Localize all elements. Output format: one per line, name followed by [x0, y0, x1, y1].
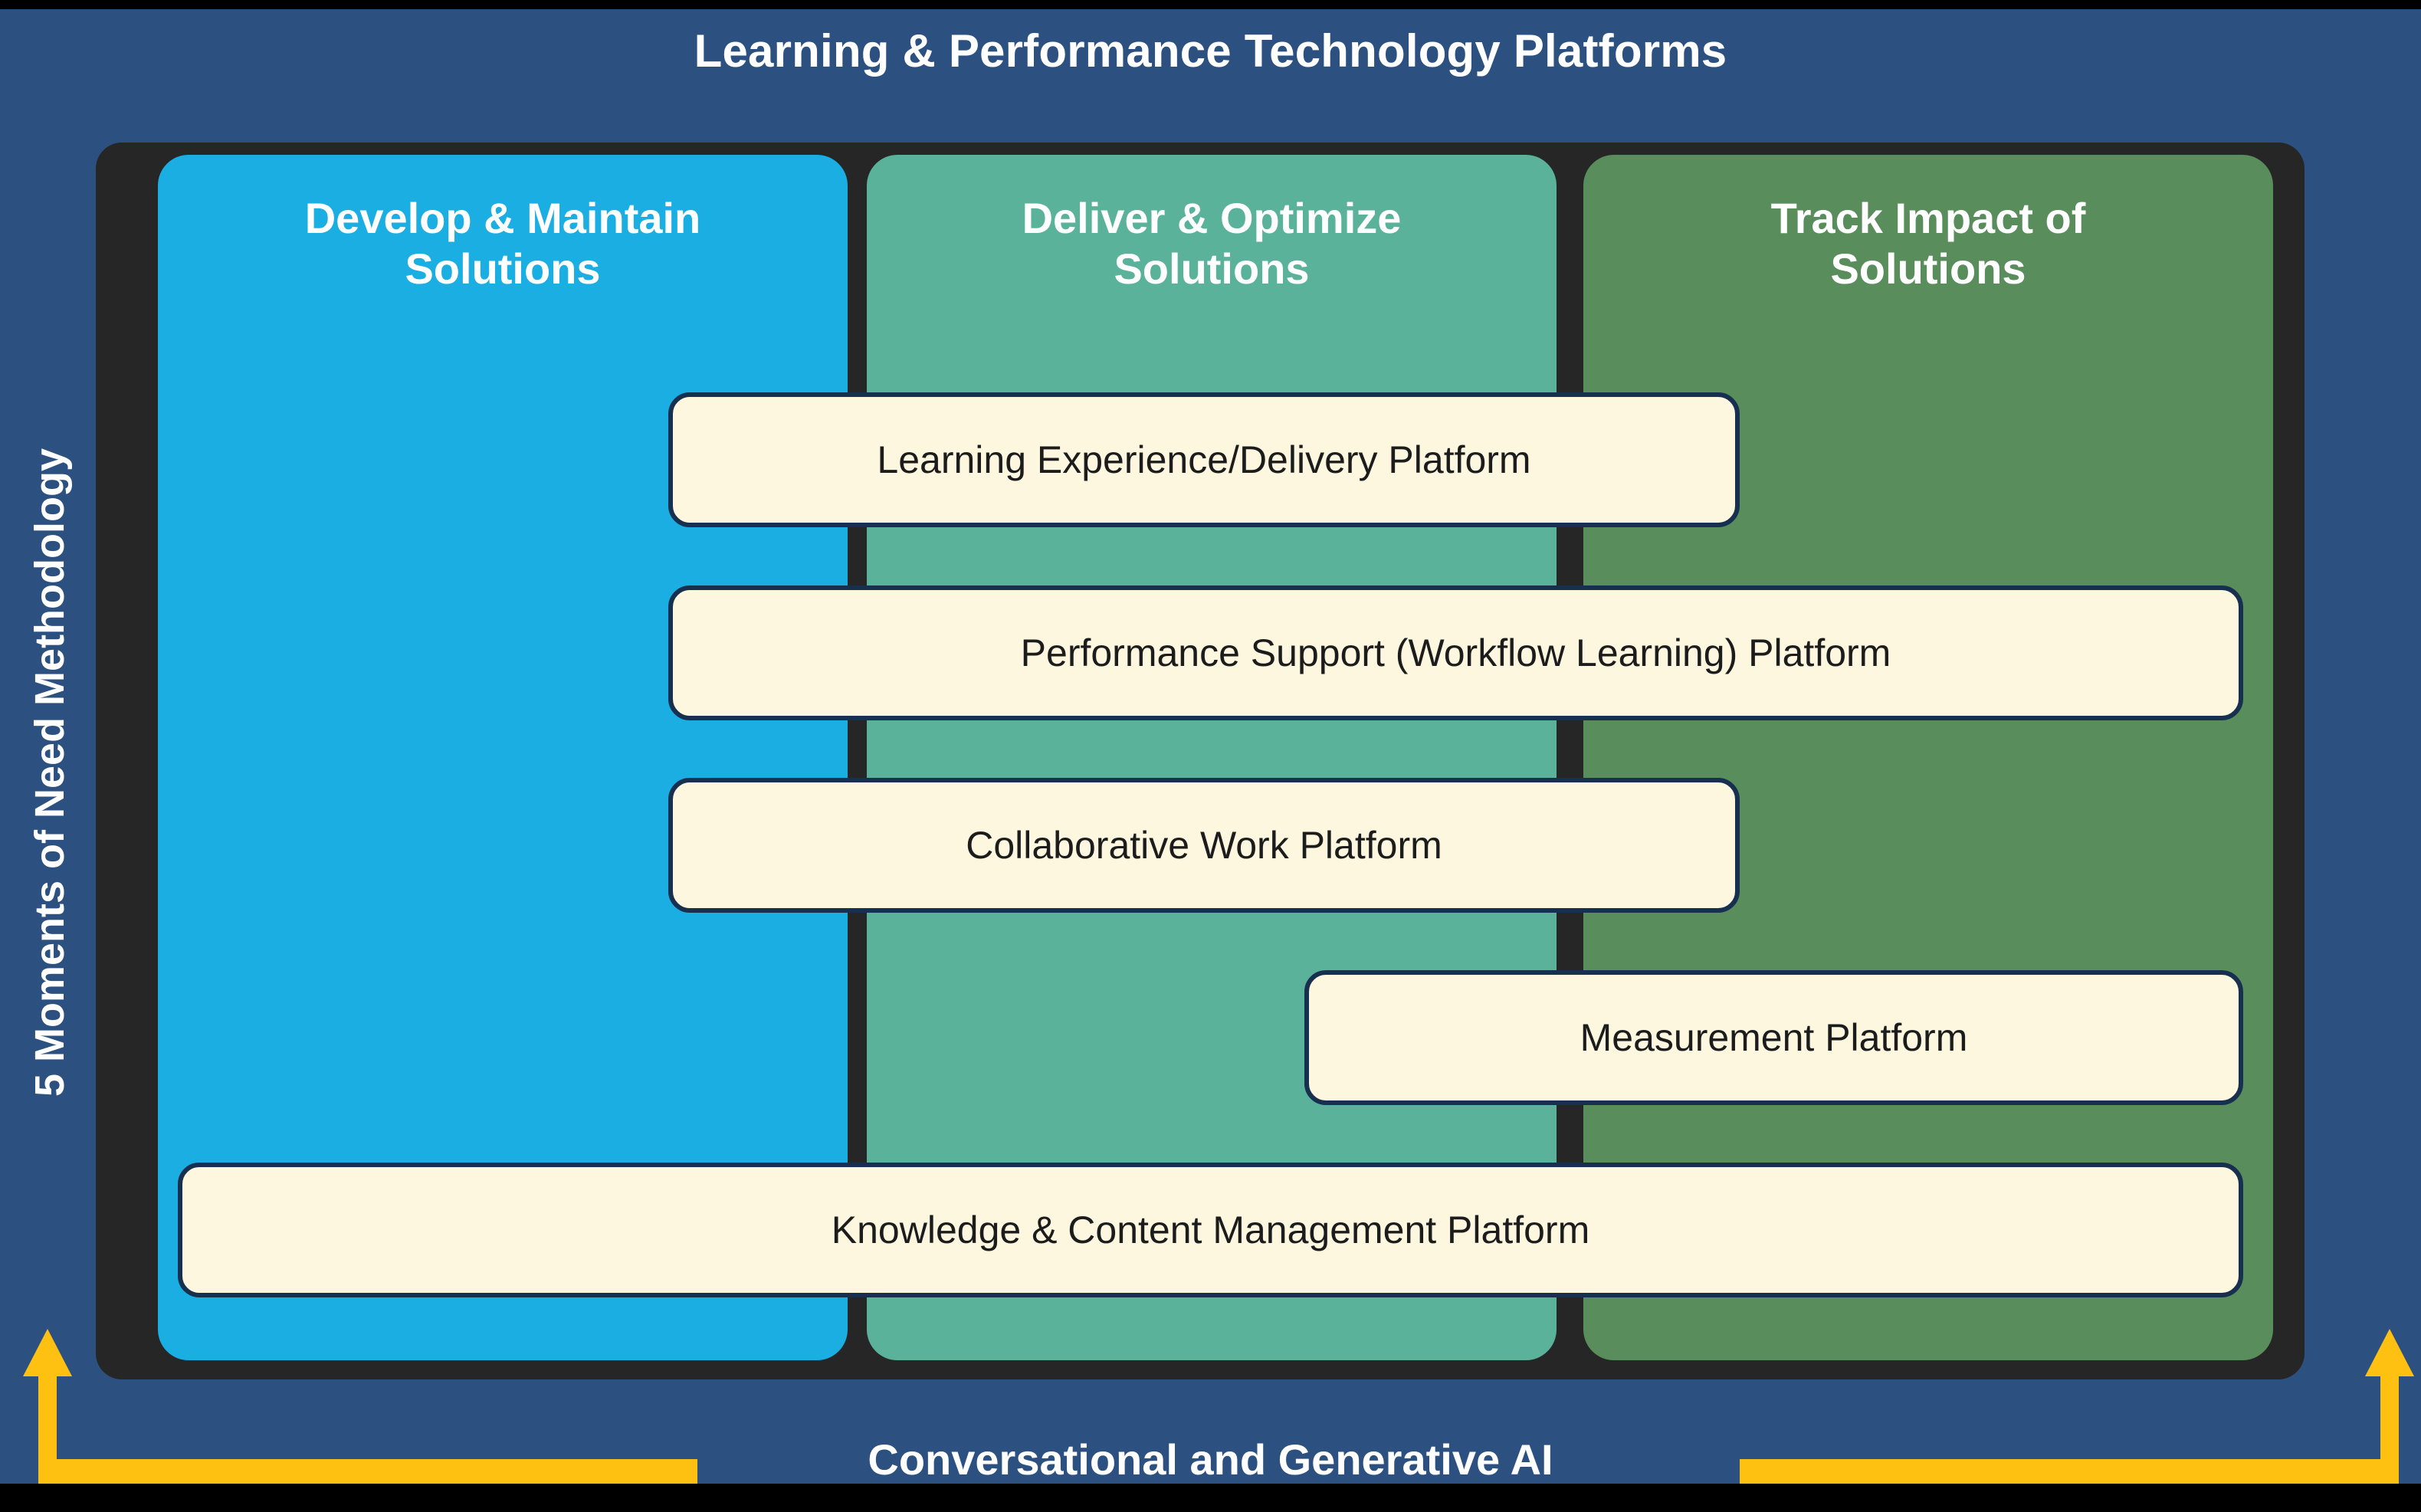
vertical-axis-label: 5 Moments of Need Methodology [26, 274, 74, 1271]
platform-learning-experience-delivery-label: Learning Experience/Delivery Platform [877, 438, 1530, 482]
column-track-title-line2: Solutions [1830, 244, 2026, 293]
platform-measurement-label: Measurement Platform [1580, 1015, 1968, 1060]
column-deliver-title-line2: Solutions [1114, 244, 1309, 293]
platform-performance-support[interactable]: Performance Support (Workflow Learning) … [668, 585, 2243, 720]
page-title: Learning & Performance Technology Platfo… [0, 25, 2421, 77]
platform-collaborative-work-label: Collaborative Work Platform [966, 823, 1442, 868]
bottom-caption: Conversational and Generative AI [0, 1435, 2421, 1484]
platform-collaborative-work[interactable]: Collaborative Work Platform [668, 778, 1740, 913]
diagram-canvas: Learning & Performance Technology Platfo… [0, 9, 2421, 1484]
column-develop-title-line2: Solutions [405, 244, 600, 293]
platform-knowledge-content-management[interactable]: Knowledge & Content Management Platform [178, 1163, 2243, 1297]
platform-knowledge-content-management-label: Knowledge & Content Management Platform [832, 1208, 1589, 1252]
platform-performance-support-label: Performance Support (Workflow Learning) … [1021, 631, 1891, 675]
column-deliver-title-line1: Deliver & Optimize [1022, 194, 1402, 242]
column-track-title: Track Impact of Solutions [1583, 193, 2273, 294]
diagram-root: Learning & Performance Technology Platfo… [0, 0, 2421, 1512]
platform-learning-experience-delivery[interactable]: Learning Experience/Delivery Platform [668, 392, 1740, 527]
column-develop-title: Develop & Maintain Solutions [158, 193, 848, 294]
column-develop-title-line1: Develop & Maintain [305, 194, 701, 242]
column-track-title-line1: Track Impact of [1771, 194, 2086, 242]
platform-measurement[interactable]: Measurement Platform [1304, 970, 2243, 1105]
column-deliver-title: Deliver & Optimize Solutions [867, 193, 1557, 294]
